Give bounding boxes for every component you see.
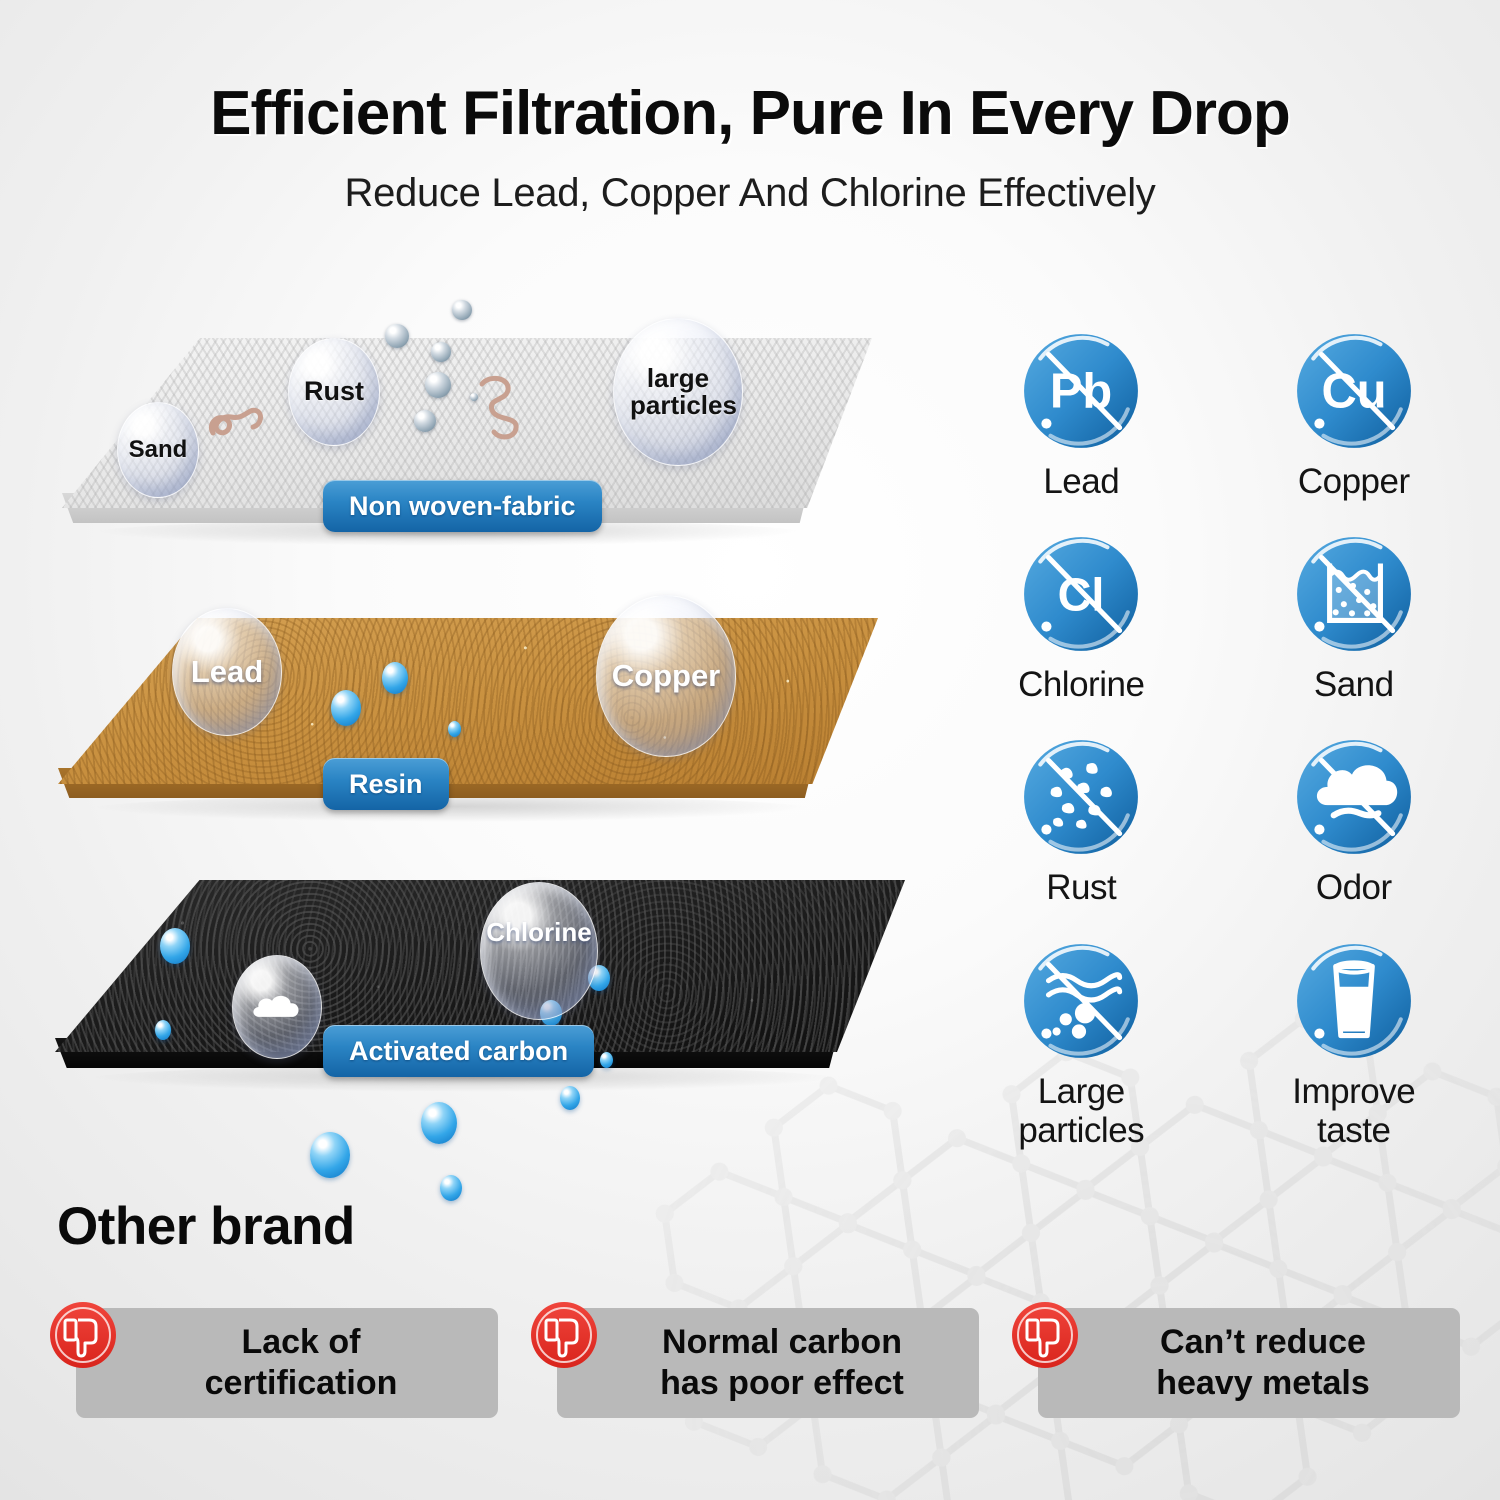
particle-bead <box>414 410 436 432</box>
water-droplet <box>331 690 361 726</box>
particle-bead <box>431 342 451 362</box>
no-large-particles-icon <box>1020 940 1142 1062</box>
improve-taste-glass-icon <box>1293 940 1415 1062</box>
particle-bead <box>425 372 451 398</box>
bubble-label: Lead <box>191 656 263 688</box>
no-odor-icon <box>1293 736 1415 858</box>
layer-label-activated-carbon: Activated carbon <box>323 1025 594 1077</box>
water-droplet <box>448 721 461 737</box>
contaminant-bubble-copper: Copper <box>596 595 736 757</box>
element-symbol: Cl <box>1058 568 1105 620</box>
contaminant-bubble-rust: Rust <box>288 338 380 446</box>
con-card-text: Normal carbonhas poor effect <box>557 1308 979 1418</box>
odor-cloud-icon <box>246 987 308 1027</box>
contaminant-bubble-chlorine: Chlorine <box>480 882 598 1020</box>
water-droplet <box>600 1052 613 1068</box>
con-card-text: Can’t reduceheavy metals <box>1038 1308 1460 1418</box>
contaminant-bubble-sand: Sand <box>117 402 199 498</box>
filter-layer-stack: Sand Rust large particles Non woven-fabr… <box>0 300 950 1200</box>
water-droplet <box>160 928 190 964</box>
water-droplet <box>310 1132 350 1178</box>
pill-label-text: Non woven-fabric <box>349 491 576 522</box>
water-droplet <box>155 1020 171 1040</box>
bubble-label: Rust <box>304 378 364 406</box>
bubble-label: Copper <box>612 660 721 692</box>
pill-label-text: Activated carbon <box>349 1036 568 1067</box>
no-lead-pb-icon: Pb <box>1020 330 1142 452</box>
no-sand-icon <box>1293 533 1415 655</box>
icon-label: Lead <box>1043 462 1119 501</box>
icon-label: Sand <box>1314 665 1394 704</box>
icon-cell-rust[interactable]: Rust <box>945 736 1218 907</box>
icon-label: Improvetaste <box>1292 1072 1415 1150</box>
other-brand-cons-row: Lack ofcertification Normal carbonhas po… <box>48 1300 1460 1420</box>
icon-label: Rust <box>1046 868 1116 907</box>
layer-label-non-woven-fabric: Non woven-fabric <box>323 480 602 532</box>
page-title: Efficient Filtration, Pure In Every Drop <box>0 78 1500 149</box>
icon-cell-large-particles[interactable]: Largeparticles <box>945 940 1218 1150</box>
other-brand-heading: Other brand <box>57 1196 355 1257</box>
rust-worm-squiggle <box>466 368 538 446</box>
rust-worm-squiggle <box>205 395 267 455</box>
icon-cell-chlorine[interactable]: Cl Chlorine <box>945 533 1218 704</box>
page-subtitle: Reduce Lead, Copper And Chlorine Effecti… <box>0 171 1500 216</box>
icon-label: Largeparticles <box>1018 1072 1144 1150</box>
particle-bead <box>452 300 472 320</box>
icon-label: Chlorine <box>1018 665 1144 704</box>
con-card-text: Lack ofcertification <box>76 1308 498 1418</box>
no-copper-cu-icon: Cu <box>1293 330 1415 452</box>
con-item: Lack ofcertification <box>48 1300 498 1418</box>
contaminant-bubble-odor <box>232 955 322 1059</box>
contaminant-bubble-large-particles: large particles <box>613 318 743 466</box>
particle-bead <box>385 324 409 348</box>
thumbs-down-icon <box>48 1300 118 1370</box>
pill-label-text: Resin <box>349 769 423 800</box>
bubble-label: Sand <box>129 438 188 462</box>
slab-shadow <box>91 796 813 822</box>
icon-label: Odor <box>1316 868 1392 907</box>
water-droplet <box>560 1086 580 1110</box>
layer-label-resin: Resin <box>323 758 449 810</box>
bubble-label: Chlorine <box>486 919 591 946</box>
con-item: Normal carbonhas poor effect <box>529 1300 979 1418</box>
con-item: Can’t reduceheavy metals <box>1010 1300 1460 1418</box>
bubble-label: large particles <box>630 365 726 418</box>
water-droplet <box>421 1102 457 1144</box>
element-symbol: Pb <box>1050 364 1112 418</box>
thumbs-down-icon <box>529 1300 599 1370</box>
water-droplet <box>382 662 408 694</box>
icon-label: Copper <box>1298 462 1410 501</box>
no-rust-icon <box>1020 736 1142 858</box>
element-symbol: Cu <box>1321 364 1386 418</box>
filtration-benefit-icon-grid: Pb Lead Cu Copper Cl Chlorine <box>945 330 1490 1150</box>
contaminant-bubble-lead: Lead <box>172 608 282 736</box>
header: Efficient Filtration, Pure In Every Drop… <box>0 78 1500 216</box>
icon-cell-odor[interactable]: Odor <box>1218 736 1491 907</box>
icon-cell-sand[interactable]: Sand <box>1218 533 1491 704</box>
icon-cell-improve-taste[interactable]: Improvetaste <box>1218 940 1491 1150</box>
icon-cell-copper[interactable]: Cu Copper <box>1218 330 1491 501</box>
water-droplet <box>440 1175 462 1201</box>
icon-cell-lead[interactable]: Pb Lead <box>945 330 1218 501</box>
thumbs-down-icon <box>1010 1300 1080 1370</box>
no-chlorine-cl-icon: Cl <box>1020 533 1142 655</box>
